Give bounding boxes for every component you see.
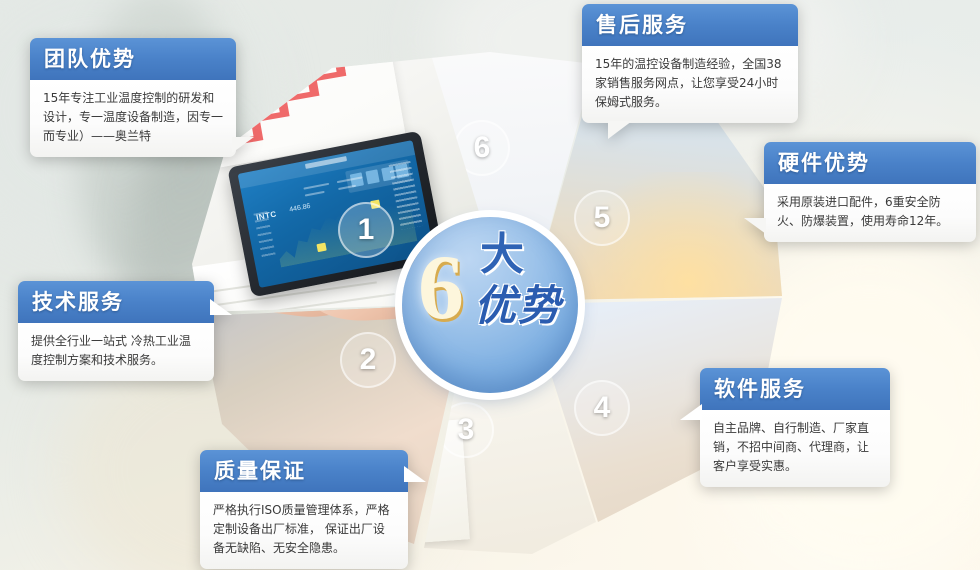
pen-clip bbox=[254, 83, 285, 106]
callout-quality-assurance[interactable]: 质量保证 严格执行ISO质量管理体系，严格定制设备出厂标准， 保证出厂设备无缺陷… bbox=[200, 450, 408, 569]
callout-tail bbox=[744, 218, 766, 234]
callout-tail bbox=[608, 121, 632, 139]
callout-title: 硬件优势 bbox=[764, 142, 976, 184]
callout-body: 严格执行ISO质量管理体系，严格定制设备出厂标准， 保证出厂设备无缺陷、无安全隐… bbox=[200, 492, 408, 569]
infographic-canvas: INTC 446.86 1 bbox=[0, 0, 980, 570]
segment-number-5: 5 bbox=[574, 190, 630, 246]
callout-hardware-advantage[interactable]: 硬件优势 采用原装进口配件，6重安全防火、防爆装置，使用寿命12年。 bbox=[764, 142, 976, 242]
callout-title: 售后服务 bbox=[582, 4, 798, 46]
center-sub-word: 优势 bbox=[474, 285, 562, 327]
callout-body: 自主品牌、自行制造、厂家直销，不招中间商、代理商，让客户享受实惠。 bbox=[700, 410, 890, 487]
callout-body: 15年专注工业温度控制的研发和设计，专一温度设备制造，因专一而专业）——奥兰特 bbox=[30, 80, 236, 157]
callout-body: 提供全行业一站式 冷热工业温度控制方案和技术服务。 bbox=[18, 323, 214, 381]
callout-tail bbox=[232, 137, 254, 153]
segment-number-2: 2 bbox=[340, 332, 396, 388]
callout-body: 15年的温控设备制造经验，全国38家销售服务网点，让您享受24小时保姆式服务。 bbox=[582, 46, 798, 123]
segment-number-1: 1 bbox=[338, 202, 394, 258]
callout-after-sales[interactable]: 售后服务 15年的温控设备制造经验，全国38家销售服务网点，让您享受24小时保姆… bbox=[582, 4, 798, 123]
segment-number-3: 3 bbox=[438, 402, 494, 458]
center-number: 6 bbox=[418, 241, 464, 333]
callout-body: 采用原装进口配件，6重安全防火、防爆装置，使用寿命12年。 bbox=[764, 184, 976, 242]
callout-title: 软件服务 bbox=[700, 368, 890, 410]
callout-title: 团队优势 bbox=[30, 38, 236, 80]
callout-team-advantage[interactable]: 团队优势 15年专注工业温度控制的研发和设计，专一温度设备制造，因专一而专业）—… bbox=[30, 38, 236, 157]
callout-title: 技术服务 bbox=[18, 281, 214, 323]
callout-tail bbox=[680, 404, 702, 420]
center-big-word: 大 bbox=[480, 233, 524, 277]
callout-software-service[interactable]: 软件服务 自主品牌、自行制造、厂家直销，不招中间商、代理商，让客户享受实惠。 bbox=[700, 368, 890, 487]
callout-tail bbox=[404, 466, 426, 482]
callout-technical-service[interactable]: 技术服务 提供全行业一站式 冷热工业温度控制方案和技术服务。 bbox=[18, 281, 214, 381]
segment-number-4: 4 bbox=[574, 380, 630, 436]
callout-tail bbox=[210, 299, 232, 315]
callout-title: 质量保证 bbox=[200, 450, 408, 492]
tablet-price-label: 446.86 bbox=[289, 203, 311, 214]
center-hub: 6 大 优势 bbox=[402, 217, 578, 393]
